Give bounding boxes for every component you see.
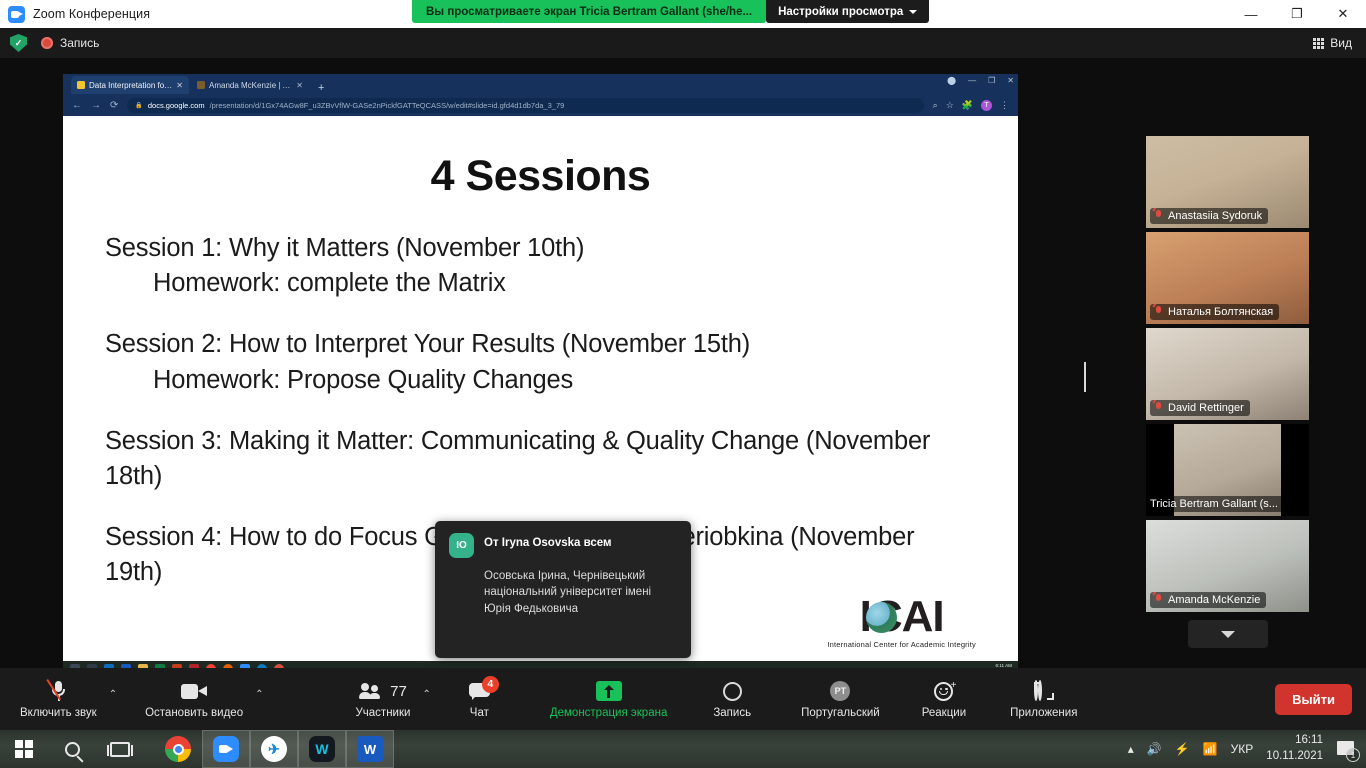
chat-toast-header: IO От Iryna Osovska всем (449, 533, 677, 558)
zoom-logo-icon (8, 6, 25, 23)
participants-button[interactable]: 77 Участники (347, 671, 418, 727)
taskbar-time: 16:11 (1266, 733, 1323, 749)
taskbar-zoom[interactable] (202, 730, 250, 768)
muted-mic-icon (1154, 402, 1163, 414)
participant-name-chip: David Rettinger (1150, 400, 1250, 416)
view-button[interactable]: Вид (1313, 36, 1352, 50)
tab-favicon-icon (197, 81, 205, 89)
language-indicator[interactable]: УКР (1231, 742, 1254, 756)
reactions-smiley-icon: + (934, 679, 953, 703)
participant-name-chip: Anastasiia Sydoruk (1150, 208, 1268, 224)
apps-icon (1034, 679, 1054, 703)
browser-close-button[interactable]: ✕ (1007, 76, 1014, 85)
lock-icon: 🔒 (135, 102, 142, 109)
app-title: Zoom Конференция (33, 7, 150, 21)
muted-mic-icon (1154, 306, 1163, 318)
chevron-down-icon (909, 10, 917, 14)
avatar: IO (449, 533, 474, 558)
window-controls: — ❐ ✕ (1228, 0, 1366, 28)
language-interpretation-button[interactable]: PT Португальский (793, 671, 888, 727)
extensions-puzzle-icon[interactable]: 🧩 (962, 100, 973, 111)
reactions-label: Реакции (922, 707, 966, 719)
slide-line-3: Session 2: How to Interpret Your Results… (105, 327, 976, 362)
forward-icon[interactable]: → (91, 100, 101, 111)
action-center-button[interactable]: 1 (1336, 739, 1358, 759)
recording-indicator[interactable]: Запись (41, 36, 99, 50)
taskbar-chrome[interactable] (154, 730, 202, 768)
back-icon[interactable]: ← (72, 100, 82, 111)
notification-count: 1 (1346, 748, 1360, 762)
security-shield-icon[interactable]: ✓ (10, 34, 27, 52)
share-screen-icon (596, 679, 622, 703)
close-button[interactable]: ✕ (1320, 0, 1366, 28)
unmute-button[interactable]: Включить звук (12, 671, 105, 727)
zoom-control-bar: Включить звук ⌃ Остановить видео ⌃ 77 Уч… (0, 668, 1366, 730)
apps-label: Приложения (1010, 707, 1077, 719)
browser-tab-strip: Data Interpretation for Quality C ✕ Aman… (63, 74, 1018, 94)
volume-icon[interactable]: 🔊 (1147, 742, 1162, 756)
record-icon (723, 679, 742, 703)
view-button-label: Вид (1330, 36, 1352, 50)
participants-icon: 77 (359, 679, 407, 703)
taskbar-whale[interactable]: W (298, 730, 346, 768)
slide-spacer (105, 301, 976, 327)
stop-video-label: Остановить видео (145, 707, 243, 719)
participant-name-chip: Amanda McKenzie (1150, 592, 1266, 608)
record-label: Запись (713, 707, 751, 719)
taskbar-skype[interactable]: ✈ (250, 730, 298, 768)
slide-spacer (105, 494, 976, 520)
participant-name-chip: Наталья Болтянская (1150, 304, 1279, 320)
maximize-button[interactable]: ❐ (1274, 0, 1320, 28)
taskbar-search-button[interactable] (48, 730, 96, 768)
windows-start-button[interactable] (0, 730, 48, 768)
icai-logo-text: ICAI (827, 596, 976, 638)
chat-notification-toast[interactable]: IO От Iryna Osovska всем Осовська Ірина,… (435, 521, 691, 658)
address-bar[interactable]: 🔒 docs.google.com/presentation/d/1Gx74AG… (127, 98, 923, 113)
video-options-chevron-icon[interactable]: ⌃ (249, 685, 269, 704)
slide-line-1: Session 1: Why it Matters (November 10th… (105, 231, 976, 266)
task-view-button[interactable] (96, 730, 144, 768)
slide-spacer (105, 398, 976, 424)
icai-logo: ICAI International Center for Academic I… (827, 596, 976, 649)
participant-tile-amanda[interactable]: Amanda McKenzie (1146, 520, 1309, 612)
taskbar-date: 10.11.2021 (1266, 749, 1323, 765)
stop-video-button[interactable]: Остановить видео (137, 671, 251, 727)
sharing-status-group: Вы просматриваете экран Tricia Bertram G… (412, 0, 929, 23)
participant-tile-tricia[interactable]: Tricia Bertram Gallant (s... (1146, 424, 1309, 516)
zoom-icon (213, 736, 239, 762)
word-icon: W (357, 736, 383, 762)
recording-label: Запись (60, 36, 99, 50)
browser-maximize-button[interactable]: ❐ (988, 76, 995, 85)
skype-icon: ✈ (261, 736, 287, 762)
chat-toast-message: Осовська Ірина, Чернівецький національни… (484, 568, 677, 617)
reload-icon[interactable]: ⟳ (110, 100, 118, 111)
share-screen-label: Демонстрация экрана (550, 707, 668, 719)
participants-options-chevron-icon[interactable]: ⌃ (416, 685, 436, 704)
view-options-button[interactable]: Настройки просмотра (766, 0, 929, 23)
participants-label: Участники (355, 707, 410, 719)
browser-update-icon[interactable]: ⬤ (947, 76, 956, 85)
minimize-button[interactable]: — (1228, 0, 1274, 28)
slide-line-4: Homework: Propose Quality Changes (105, 363, 976, 398)
participant-name: Tricia Bertram Gallant (s... (1150, 498, 1278, 510)
participants-count: 77 (390, 683, 407, 700)
participant-tile-anastasiia[interactable]: Anastasiia Sydoruk (1146, 136, 1309, 228)
profile-avatar[interactable]: T (981, 100, 992, 111)
tab-close-icon[interactable]: ✕ (176, 81, 183, 90)
record-dot-icon (41, 37, 53, 49)
taskbar-clock[interactable]: 16:11 10.11.2021 (1266, 733, 1323, 764)
network-icon[interactable]: 📶 (1203, 742, 1218, 756)
chat-icon: 4 (469, 679, 490, 703)
show-hidden-icons[interactable]: ▴ (1128, 742, 1134, 756)
chat-toast-sender: От Iryna Osovska всем (484, 533, 612, 549)
system-tray: ▴ 🔊 ⚡ 📶 УКР 16:11 10.11.2021 1 (1128, 730, 1366, 768)
zoom-title-left: Zoom Конференция (0, 6, 150, 23)
browser-toolbar-actions: ⌕ ☆ 🧩 T ⋮ (933, 100, 1009, 111)
zoom-title-bar: Zoom Конференция Вы просматриваете экран… (0, 0, 1366, 28)
muted-mic-icon (1154, 210, 1163, 222)
language-label: Португальский (801, 707, 880, 719)
chat-button[interactable]: 4 Чат (461, 671, 498, 727)
browser-url-bar: ← → ⟳ 🔒 docs.google.com/presentation/d/1… (63, 94, 1018, 116)
participant-name: Amanda McKenzie (1168, 594, 1260, 606)
chat-unread-badge: 4 (482, 676, 499, 693)
muted-mic-icon (1154, 594, 1163, 606)
tab-favicon-icon (77, 81, 85, 89)
whale-browser-icon: W (309, 736, 335, 762)
chevron-down-icon (1221, 631, 1235, 638)
text-cursor (1084, 362, 1086, 392)
participant-filmstrip: Anastasiia Sydoruk Наталья Болтянская Da… (1146, 136, 1309, 616)
camera-icon (181, 679, 207, 703)
url-path: /presentation/d/1Gx74AGw8F_u3ZBvVflW-GAS… (210, 101, 565, 110)
audio-group: Включить звук ⌃ (12, 671, 123, 727)
participant-name: David Rettinger (1168, 402, 1244, 414)
apps-button[interactable]: Приложения (1002, 671, 1085, 727)
leave-meeting-button[interactable]: Выйти (1275, 684, 1352, 715)
windows-logo-icon (15, 740, 33, 758)
video-group: Остановить видео ⌃ (137, 671, 269, 727)
bookmark-star-icon[interactable]: ☆ (946, 100, 954, 111)
browser-tab-2-title: Amanda McKenzie | Associate Vi (209, 81, 292, 90)
browser-tab-1[interactable]: Data Interpretation for Quality C ✕ (71, 76, 189, 94)
audio-options-chevron-icon[interactable]: ⌃ (103, 685, 123, 704)
browser-tab-2[interactable]: Amanda McKenzie | Associate Vi ✕ (191, 76, 309, 94)
record-button[interactable]: Запись (705, 671, 759, 727)
participant-tile-david[interactable]: David Rettinger (1146, 328, 1309, 420)
search-icon (65, 742, 80, 757)
new-tab-button[interactable]: + (311, 82, 331, 94)
url-domain: docs.google.com (148, 101, 205, 110)
language-code: PT (830, 681, 850, 701)
chrome-icon (165, 736, 191, 762)
task-view-icon (110, 742, 130, 757)
slide-line-5: Session 3: Making it Matter: Communicati… (105, 424, 976, 494)
slide-title: 4 Sessions (105, 152, 976, 201)
participant-name-chip: Tricia Bertram Gallant (s... (1146, 496, 1309, 512)
browser-minimize-button[interactable]: — (968, 76, 976, 85)
participants-group: 77 Участники ⌃ (347, 671, 436, 727)
slide-line-2: Homework: complete the Matrix (105, 266, 976, 301)
browser-tab-1-title: Data Interpretation for Quality C (89, 81, 172, 90)
page-zoom-icon[interactable]: ⌕ (933, 100, 938, 111)
unmute-label: Включить звук (20, 707, 97, 719)
reactions-button[interactable]: + Реакции (914, 671, 974, 727)
browser-menu-icon[interactable]: ⋮ (1000, 100, 1009, 111)
zoom-meeting-window: Zoom Конференция Вы просматриваете экран… (0, 0, 1366, 768)
chat-label: Чат (470, 707, 489, 719)
share-banner: Вы просматриваете экран Tricia Bertram G… (412, 0, 766, 23)
share-screen-button[interactable]: Демонстрация экрана (542, 671, 676, 727)
grid-view-icon (1313, 38, 1324, 49)
view-options-label: Настройки просмотра (778, 6, 903, 18)
zoom-secondary-bar: ✓ Запись Вид (0, 28, 1366, 58)
filmstrip-scroll-down-button[interactable] (1188, 620, 1268, 648)
windows-taskbar: ✈ W W ▴ 🔊 ⚡ 📶 УКР 16:11 10.11.2021 1 (0, 730, 1366, 768)
browser-window-controls: ⬤ — ❐ ✕ (947, 76, 1014, 85)
language-icon: PT (830, 679, 850, 703)
microphone-muted-icon (50, 679, 66, 703)
participant-tile-natalya[interactable]: Наталья Болтянская (1146, 232, 1309, 324)
participant-name: Наталья Болтянская (1168, 306, 1273, 318)
battery-icon[interactable]: ⚡ (1175, 742, 1190, 756)
taskbar-word[interactable]: W (346, 730, 394, 768)
icai-logo-subtitle: International Center for Academic Integr… (827, 640, 976, 649)
participant-name: Anastasiia Sydoruk (1168, 210, 1262, 222)
tab-close-icon[interactable]: ✕ (296, 81, 303, 90)
